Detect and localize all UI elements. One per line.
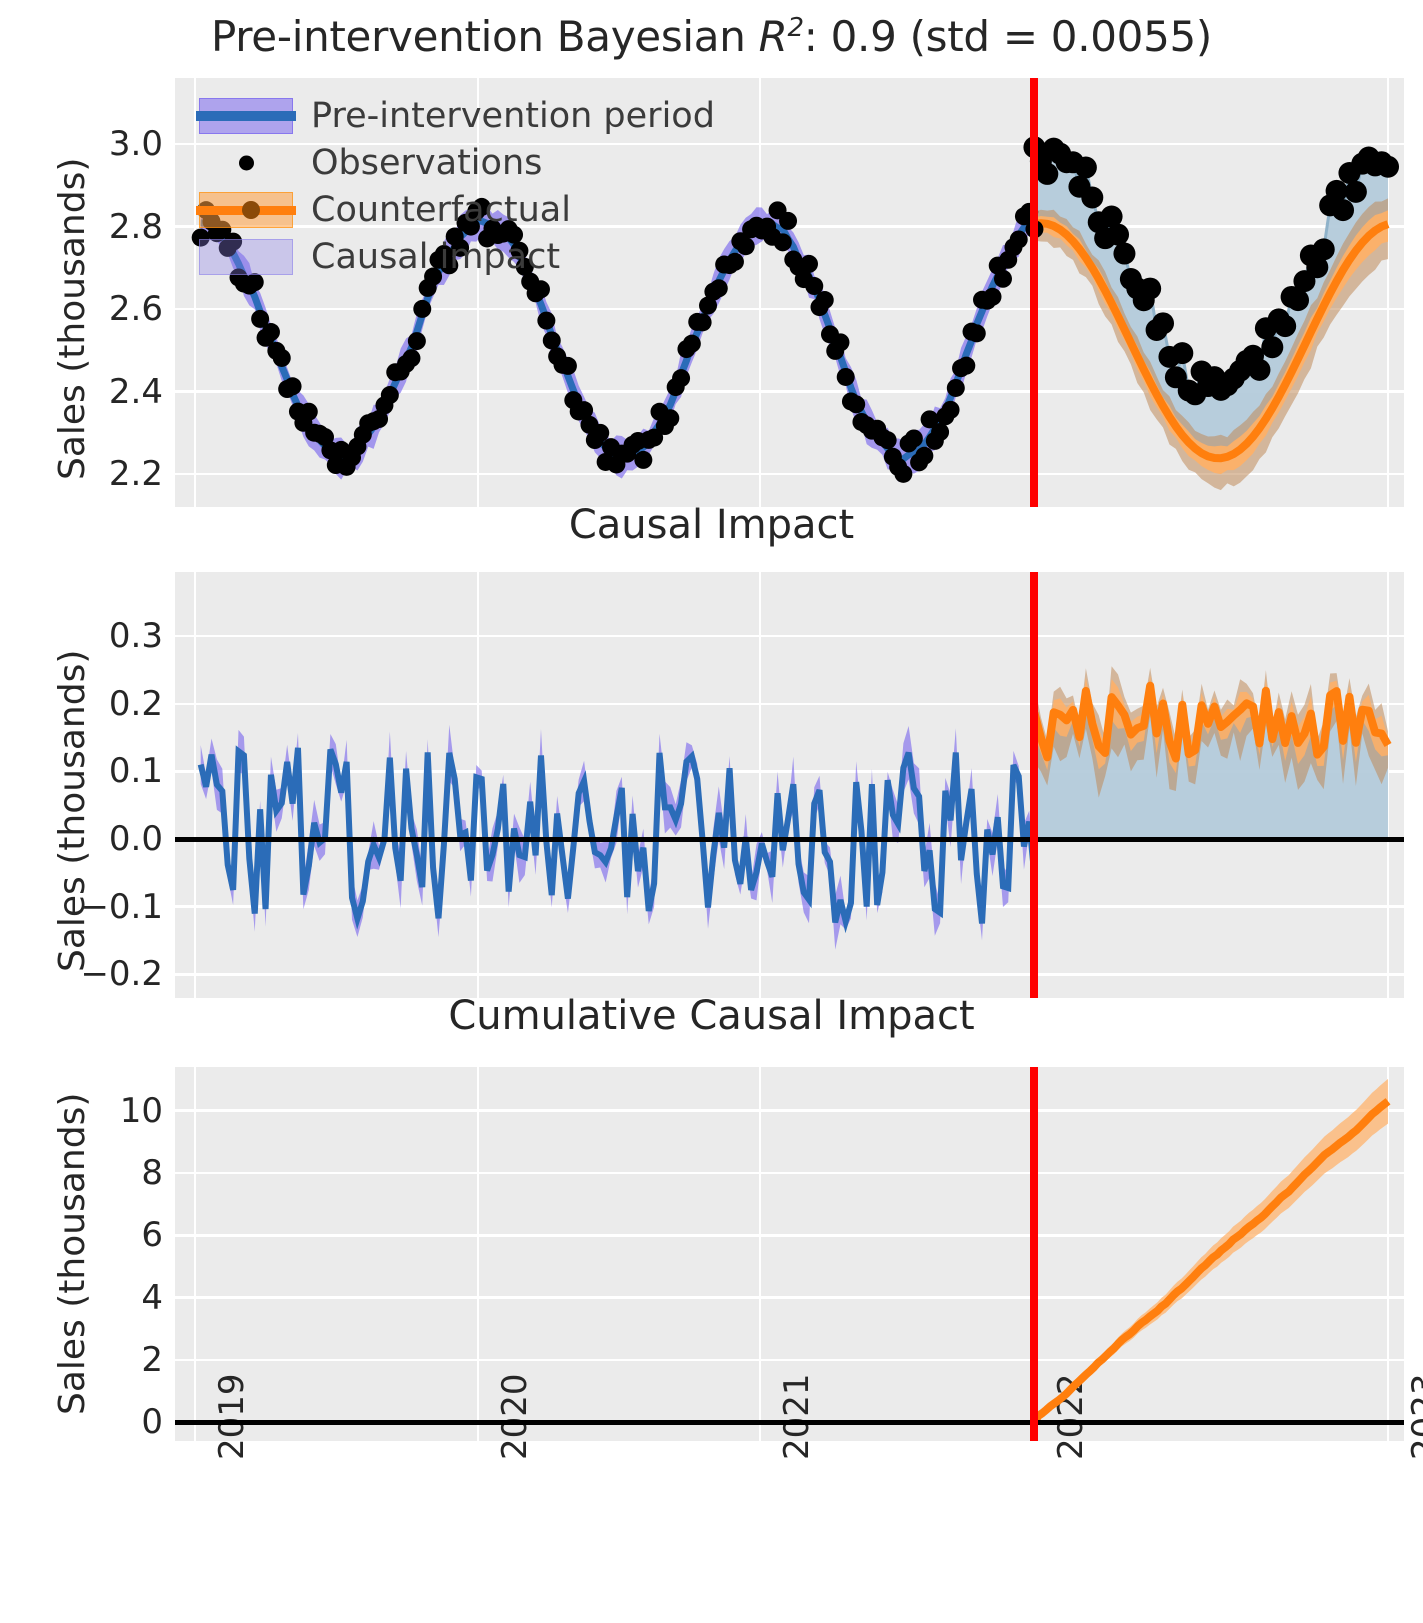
zero-reference-line [175,1420,1404,1425]
legend-label: Pre-intervention period [311,96,715,136]
intervention-line [1030,78,1038,507]
legend-label: Causal impact [311,237,560,277]
intervention-line [1030,1067,1038,1441]
zero-reference-line [175,837,1404,842]
intervention-line [1030,572,1038,998]
causal-impact-band-icon [199,239,293,275]
pre-intervention-band-icon [199,98,293,134]
legend-label: Observations [311,143,542,183]
figure-canvas: Pre-intervention Bayesian R2: 0.9 (std =… [0,0,1423,1623]
legend-label: Counterfactual [311,190,571,230]
cumulative-impact-line [1034,1101,1388,1422]
observation-dot-icon [239,155,254,170]
counterfactual-band-icon [199,192,293,228]
